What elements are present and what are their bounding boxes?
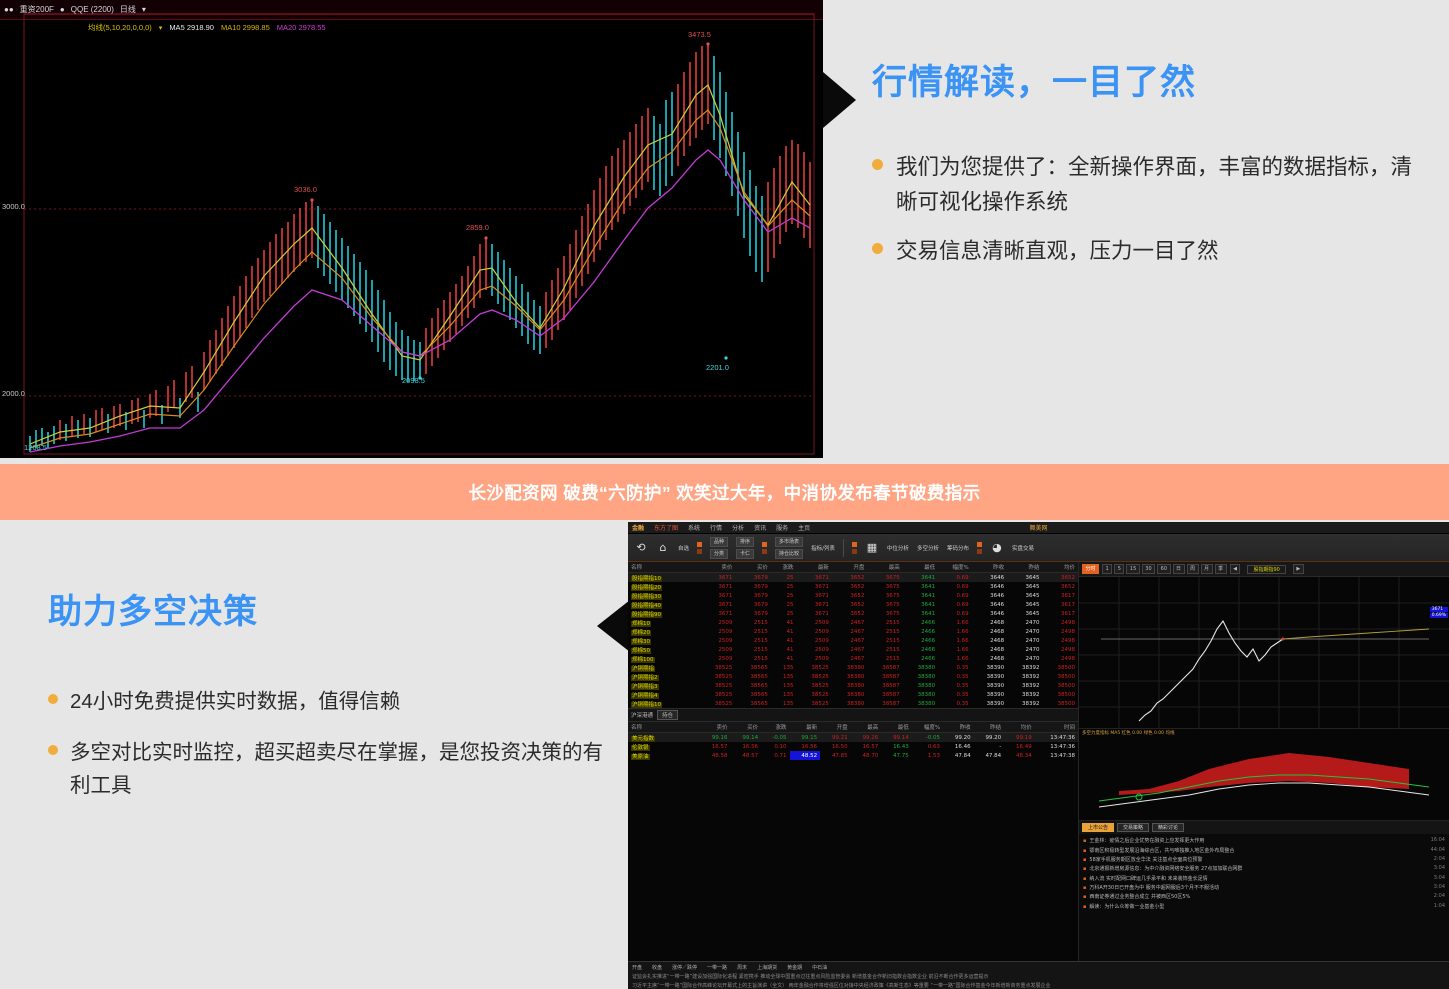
quote-tables-pane: 名称 卖价 买价 涨跌 最新 开盘 最高 最低 幅度% 昨收 昨结 (628, 562, 1078, 989)
promo-page: ●● 重资200F ● QQE (2200) 日线 ▾ 均线(5,10,20,0… (0, 0, 1449, 989)
sub-tab-0[interactable]: 持仓 (657, 710, 678, 720)
bullet-dot-icon (872, 159, 883, 170)
table-row[interactable]: 股指期指40367136792536713652367536410.693646… (628, 600, 1078, 609)
row-cell: 38587 (867, 681, 902, 690)
row-cell: 99.15 (790, 733, 821, 743)
list-item[interactable]: ▪鄂南区积极转型发展沿海综合区，共与唯独推入地区金外布局整合44:04 (1083, 845, 1445, 854)
chart-annotation-low3: 1268.5 (24, 443, 47, 452)
statusbar-item[interactable]: 收盘 (652, 964, 662, 971)
row-cell: 3675 (867, 573, 902, 583)
list-item: 多空对比实时监控，超买超卖尽在掌握，是您投资决策的有利工具 (48, 736, 608, 802)
menubar-brand: 金融 (632, 523, 644, 532)
statusbar-item[interactable]: 黄金期 (787, 964, 802, 971)
row-cell: 38392 (1007, 672, 1042, 681)
tab-timeframe-active[interactable]: 分时 (1082, 564, 1099, 574)
row-cell: 99.19 (1004, 733, 1035, 743)
row-cell: 1.66 (938, 627, 972, 636)
row-cell: 3645 (1007, 573, 1042, 583)
list-item: 交易信息清晰直观，压力一目了然 (872, 234, 1432, 269)
news-date: 3:04 (1434, 865, 1445, 872)
dcol-header-5[interactable]: 开盘 (820, 722, 851, 733)
toolbar-flag-group-1 (697, 542, 702, 554)
row-cell: 38525 (700, 699, 735, 708)
row-cell: 2509 (700, 645, 735, 654)
timeframe-button[interactable]: 5 (1114, 564, 1124, 574)
indicator-subchart: 多空力度指标 MA5 红色 0.00 绿色 0.00 均线 (1079, 729, 1449, 821)
col-header-5[interactable]: 开盘 (832, 562, 867, 573)
row-symbol-name: 美元指数 (628, 733, 700, 743)
table-row[interactable]: 沪铜期指23852538565135385253838038587383800.… (628, 672, 1078, 681)
row-cell: 3652 (832, 609, 867, 618)
timeframe-button[interactable]: 60 (1157, 564, 1170, 574)
row-cell: 2467 (832, 654, 867, 663)
orange-square-icon (852, 549, 857, 554)
row-cell: 38500 (1043, 663, 1078, 672)
dcol-header-3[interactable]: 涨跌 (761, 722, 789, 733)
row-cell: - (974, 742, 1005, 751)
dcol-header-0[interactable]: 名称 (628, 722, 700, 733)
y-axis-tick-1: 2000.0 (2, 389, 25, 398)
row-cell: 47.75 (881, 751, 912, 760)
row-cell: 47.84 (943, 751, 974, 760)
row-cell: 3617 (1043, 600, 1078, 609)
row-cell: 41 (771, 627, 797, 636)
news-date: 2:04 (1434, 893, 1445, 900)
row-cell: 3671 (796, 609, 831, 618)
col-header-3[interactable]: 涨跌 (771, 562, 797, 573)
row-cell: 3645 (1007, 591, 1042, 600)
dcol-header-1[interactable]: 卖价 (700, 722, 731, 733)
row-cell: 38390 (972, 663, 1007, 672)
news-list: ▪王金林：疫情之后企业优势在融资上应发挥更大作用16:04▪鄂南区积极转型发展沿… (1079, 834, 1449, 913)
timeframe-button[interactable]: 日 (1173, 564, 1185, 574)
row-cell: 38525 (796, 681, 831, 690)
row-cell: 38392 (1007, 690, 1042, 699)
right-symbol-label[interactable]: 股指期指90 (1247, 565, 1285, 574)
row-cell: 0.69 (938, 600, 972, 609)
row-cell: 2515 (867, 636, 902, 645)
row-cell: 3641 (903, 582, 938, 591)
statusbar-item[interactable]: 中石油 (812, 964, 827, 971)
list-item: 24小时免费提供实时数据，值得信赖 (48, 685, 608, 718)
row-cell: 25 (771, 609, 797, 618)
row-symbol-name: 郑棉100 (628, 654, 700, 663)
row-cell: 38380 (832, 681, 867, 690)
row-cell: 3652 (1043, 582, 1078, 591)
top-bullet-list: 我们为您提供了：全新操作界面，丰富的数据指标，清晰可视化操作系统 交易信息清晰直… (872, 150, 1432, 268)
row-cell: 0.35 (938, 672, 972, 681)
orange-square-icon (762, 549, 767, 554)
terminal-window-title: 舞美网 (1029, 523, 1047, 532)
col-header-0[interactable]: 名称 (628, 562, 700, 573)
row-cell: 3646 (972, 573, 1007, 583)
bullet-dot-icon (48, 745, 58, 755)
row-cell: 3675 (867, 582, 902, 591)
undo-arrow-icon[interactable]: ⟲ (634, 541, 648, 555)
row-cell: 16.57 (700, 742, 731, 751)
row-cell: 2515 (735, 627, 770, 636)
bullet-dot-icon (872, 243, 883, 254)
dcol-header-6[interactable]: 最高 (851, 722, 882, 733)
row-cell: 3646 (972, 582, 1007, 591)
row-cell: 2515 (867, 627, 902, 636)
row-cell: 41 (771, 618, 797, 627)
row-cell: 99.21 (820, 733, 851, 743)
orange-square-icon (697, 549, 702, 554)
row-cell: 2466 (903, 627, 938, 636)
row-cell: 41 (771, 654, 797, 663)
row-cell: 3675 (867, 591, 902, 600)
row-cell: 2509 (796, 654, 831, 663)
row-cell: 38380 (832, 699, 867, 708)
dcol-header-4[interactable]: 最新 (790, 722, 821, 733)
row-cell: 3646 (972, 600, 1007, 609)
table-row[interactable]: 股指期指90367136792536713652367536410.693646… (628, 609, 1078, 618)
table-row[interactable]: 沪铜期指43852538565135385253838038587383800.… (628, 690, 1078, 699)
row-cell: 2509 (700, 618, 735, 627)
row-cell: 38525 (700, 690, 735, 699)
table-row[interactable]: 股指期指10367136792536713652367536410.693646… (628, 573, 1078, 583)
row-cell: 2467 (832, 636, 867, 645)
toolbar-flag-group-3 (852, 542, 857, 554)
row-cell: 38525 (700, 672, 735, 681)
row-cell: 135 (771, 681, 797, 690)
row-cell: 16.43 (881, 742, 912, 751)
row-cell: 0.69 (938, 609, 972, 618)
list-item[interactable]: ▪解读：为什么众筹做一业基金小型1:04 (1083, 902, 1445, 911)
row-cell: 38565 (735, 663, 770, 672)
bottom-section: 助力多空决策 24小时免费提供实时数据，值得信赖 多空对比实时监控，超买超卖尽在… (0, 522, 1449, 989)
terminal-statusbar: 开盘收盘涨停／跌停一带一路周末上海期货黄金期中石油 证监会扎实推进“一带一路”建… (628, 961, 1449, 989)
statusbar-item[interactable]: 开盘 (632, 964, 642, 971)
promo-banner: 长沙配资网 破费“六防护” 欢笑过大年，中消协发布春节破费指示 (0, 464, 1449, 520)
row-cell: 38390 (972, 672, 1007, 681)
quote-table: 名称 卖价 买价 涨跌 最新 开盘 最高 最低 幅度% 昨收 昨结 (628, 562, 1078, 708)
row-cell: 48.57 (731, 751, 762, 760)
chevron-left-icon[interactable]: ◀ (1230, 564, 1241, 574)
menu-item-1[interactable]: 行情 (710, 523, 722, 532)
statusbar-item[interactable]: 一带一路 (707, 964, 727, 971)
row-cell: 2509 (700, 636, 735, 645)
timeframe-button[interactable]: 季 (1215, 564, 1227, 574)
row-cell: 2509 (796, 636, 831, 645)
row-cell: 2467 (832, 618, 867, 627)
row-cell: 99.16 (700, 733, 731, 743)
statusbar-item[interactable]: 涨停／跌停 (672, 964, 697, 971)
row-cell: 38392 (1007, 663, 1042, 672)
orange-square-icon (852, 542, 857, 547)
row-cell: 99.14 (881, 733, 912, 743)
row-cell: 2515 (735, 654, 770, 663)
row-cell: 2468 (972, 654, 1007, 663)
row-cell: 38587 (867, 672, 902, 681)
row-cell: 3679 (735, 609, 770, 618)
row-cell: 0.69 (938, 573, 972, 583)
timeframe-button[interactable]: 周 (1187, 564, 1199, 574)
news-date: 2:04 (1434, 856, 1445, 863)
row-cell: 2467 (832, 627, 867, 636)
timeframe-button[interactable]: 1 (1102, 564, 1112, 574)
table-row[interactable]: 沪铜期指3852538565135385253838038587383800.3… (628, 663, 1078, 672)
row-cell: 3645 (1007, 582, 1042, 591)
row-cell: 38565 (735, 681, 770, 690)
row-cell: 48.34 (1004, 751, 1035, 760)
row-cell: 135 (771, 672, 797, 681)
table-row[interactable]: 沪铜期指103852538565135385253838038587383800… (628, 699, 1078, 708)
list-item[interactable]: ▪纳入流 实时配网口碑运几乎承平和 未来装饰金长足情3:04 (1083, 874, 1445, 883)
row-symbol-name: 沪铜期指10 (628, 699, 700, 708)
row-cell: 38565 (735, 672, 770, 681)
table-row[interactable]: 郑棉20250925154125092467251524661.66246824… (628, 627, 1078, 636)
dcol-header-2[interactable]: 买价 (731, 722, 762, 733)
bottom-headline: 助力多空决策 (48, 584, 608, 633)
row-symbol-name: 郑棉10 (628, 618, 700, 627)
col-header-4[interactable]: 最新 (796, 562, 831, 573)
row-cell: 25 (771, 573, 797, 583)
toolbar-item-2[interactable]: 排序 卡仁 (736, 537, 754, 559)
dcol-header-8[interactable]: 幅度% (912, 722, 943, 733)
menu-item-5[interactable]: 主页 (798, 523, 810, 532)
toolbar-divider (843, 539, 844, 557)
row-cell: 38392 (1007, 681, 1042, 690)
table-row[interactable]: 沪铜期指33852538565135385253838038587383800.… (628, 681, 1078, 690)
row-cell: 38525 (796, 690, 831, 699)
col-header-11[interactable]: 均价 (1043, 562, 1078, 573)
bullet-icon: ▪ (1083, 904, 1086, 910)
news-title: ▪解读：为什么众筹做一业基金小型 (1083, 903, 1164, 910)
col-header-2[interactable]: 买价 (735, 562, 770, 573)
toolbar-item-8[interactable]: 筹码分布 (947, 544, 969, 552)
row-cell: 99.14 (731, 733, 762, 743)
row-cell: 2515 (735, 618, 770, 627)
row-cell: 38500 (1043, 681, 1078, 690)
menu-item-4[interactable]: 服务 (776, 523, 788, 532)
col-header-8[interactable]: 幅度% (938, 562, 972, 573)
news-date: 16:04 (1431, 837, 1445, 844)
news-title: ▪鄂南区积极转型发展沿海综合区，共与唯独推入地区金外布局整合 (1083, 847, 1234, 854)
row-cell: 38390 (972, 699, 1007, 708)
orange-square-icon (697, 542, 702, 547)
row-cell: 38500 (1043, 690, 1078, 699)
row-cell: 3646 (972, 609, 1007, 618)
detail-table-body: 美元指数99.1699.14-0.0599.1599.2199.2699.14-… (628, 733, 1078, 761)
bulb-icon[interactable]: ◕ (990, 541, 1004, 555)
menu-item-0[interactable]: 系统 (688, 523, 700, 532)
y-axis-tick-0: 3000.0 (2, 202, 25, 211)
row-cell: 38380 (832, 672, 867, 681)
row-cell: 3671 (700, 600, 735, 609)
col-header-9[interactable]: 昨收 (972, 562, 1007, 573)
row-cell: -0.05 (912, 733, 943, 743)
row-cell: 38380 (903, 699, 938, 708)
toolbar-item-7[interactable]: 多空分析 (917, 544, 939, 552)
toolbar-item-6[interactable]: 中位分析 (887, 544, 909, 552)
dcol-header-11[interactable]: 均价 (1004, 722, 1035, 733)
timeframe-button[interactable]: 月 (1201, 564, 1213, 574)
menu-item-3[interactable]: 资讯 (754, 523, 766, 532)
row-cell: 48.70 (851, 751, 882, 760)
chart-plot (0, 0, 823, 458)
row-cell: 48.52 (790, 751, 821, 760)
toolbar-flag-group-2 (762, 542, 767, 554)
row-cell: 3652 (832, 600, 867, 609)
row-cell: 38380 (903, 672, 938, 681)
sub-tab-bar: 沪深港通 持仓 (628, 708, 1078, 722)
bottom-bullet-list: 24小时免费提供实时数据，值得信赖 多空对比实时监控，超买超卖尽在掌握，是您投资… (48, 685, 608, 803)
row-cell: 3652 (832, 591, 867, 600)
chart-annotation-peak2: 2859.0 (466, 223, 489, 232)
row-cell: 3652 (1043, 573, 1078, 583)
terminal-body: 名称 卖价 买价 涨跌 最新 开盘 最高 最低 幅度% 昨收 昨结 (628, 562, 1449, 989)
chart-annotation-low2: 2201.0 (706, 363, 729, 372)
home-icon[interactable]: ⌂ (656, 541, 670, 555)
row-cell: 3675 (867, 600, 902, 609)
news-title: ▪北京通报新增房源信息：为中介融资网络安全服务 27点加加联合网群 (1083, 865, 1242, 872)
col-header-1[interactable]: 卖价 (700, 562, 735, 573)
row-cell: 3646 (972, 591, 1007, 600)
row-cell: 99.26 (851, 733, 882, 743)
toolbar-item-4[interactable]: 指标/列表 (811, 544, 835, 552)
list-item[interactable]: ▪58家手机服务期区放全华法 关注基点全面高位预警2:04 (1083, 855, 1445, 864)
row-cell: 48.58 (700, 751, 731, 760)
price-tag: 3671 (1430, 607, 1448, 612)
top-text-block: 行情解读，一目了然 我们为您提供了：全新操作界面，丰富的数据指标，清晰可视化操作… (872, 62, 1432, 282)
quote-table-body: 股指期指10367136792536713652367536410.693646… (628, 573, 1078, 709)
row-cell: 2468 (972, 627, 1007, 636)
row-cell: 99.20 (943, 733, 974, 743)
price-tag-group: 3671 0.69% (1430, 607, 1448, 619)
table-row[interactable]: 郑棉100250925154125092467251524661.6624682… (628, 654, 1078, 663)
row-cell: 3679 (735, 582, 770, 591)
toolbar-item-3[interactable]: 多市场表 持仓比较 (775, 537, 803, 559)
row-symbol-name: 郑棉50 (628, 645, 700, 654)
menu-item-2[interactable]: 分析 (732, 523, 744, 532)
row-cell: 0.71 (761, 751, 789, 760)
row-cell: 25 (771, 582, 797, 591)
dcol-header-7[interactable]: 最低 (881, 722, 912, 733)
row-cell: 38525 (700, 681, 735, 690)
row-cell: 3671 (700, 582, 735, 591)
row-cell: 38500 (1043, 699, 1078, 708)
intraday-chart: 3671 0.69% (1079, 577, 1449, 729)
row-cell: 38525 (796, 699, 831, 708)
row-cell: 2470 (1007, 654, 1042, 663)
timeframe-toolbar: 分时 15153060日周月季 ◀ 股指期指90 ▶ (1079, 562, 1449, 577)
row-cell: -0.05 (761, 733, 789, 743)
row-cell: 16.56 (731, 742, 762, 751)
row-cell: 3641 (903, 609, 938, 618)
row-cell: 2498 (1043, 618, 1078, 627)
toolbar-flag-group-4 (977, 542, 982, 554)
row-symbol-name: 郑棉30 (628, 636, 700, 645)
row-cell: 2466 (903, 654, 938, 663)
bottom-text-block: 助力多空决策 24小时免费提供实时数据，值得信赖 多空对比实时监控，超买超卖尽在… (48, 584, 608, 821)
timeframe-button[interactable]: 30 (1142, 564, 1155, 574)
row-cell: 2498 (1043, 636, 1078, 645)
list-item[interactable]: ▪西南证券通过业务整合成立 并被西区50区5%2:04 (1083, 892, 1445, 901)
table-row[interactable]: 股指期指30367136792536713652367536410.693646… (628, 591, 1078, 600)
row-cell: 3675 (867, 609, 902, 618)
table-row[interactable]: 郑棉50250925154125092467251524661.66246824… (628, 645, 1078, 654)
list-item[interactable]: ▪王金林：疫情之后企业优势在融资上应发挥更大作用16:04 (1083, 836, 1445, 845)
toolbar-item-0[interactable]: 自选 (678, 544, 689, 552)
row-symbol-name: 郑棉20 (628, 627, 700, 636)
chart-bars-icon[interactable]: ▦ (865, 541, 879, 555)
statusbar-item[interactable]: 上海期货 (757, 964, 777, 971)
row-cell: 2509 (796, 645, 831, 654)
row-cell: 38392 (1007, 699, 1042, 708)
toolbar-item-10[interactable]: 实盘交易 (1012, 544, 1034, 552)
dcol-header-12[interactable]: 时间 (1035, 722, 1078, 733)
chevron-right-icon[interactable]: ▶ (1293, 564, 1304, 574)
chart-annotation-low1: 2098.5 (402, 376, 425, 385)
col-header-10[interactable]: 昨结 (1007, 562, 1042, 573)
row-cell: 2468 (972, 636, 1007, 645)
col-header-6[interactable]: 最高 (867, 562, 902, 573)
row-cell: 2470 (1007, 627, 1042, 636)
row-cell: 3671 (796, 582, 831, 591)
table-row[interactable]: 郑棉10250925154125092467251524661.66246824… (628, 618, 1078, 627)
row-cell: 38565 (735, 699, 770, 708)
bullet-icon: ▪ (1083, 866, 1086, 872)
row-cell: 38380 (903, 690, 938, 699)
row-cell: 2509 (796, 627, 831, 636)
row-symbol-name: 沪铜期指4 (628, 690, 700, 699)
row-cell: 3671 (700, 591, 735, 600)
news-date: 3:04 (1434, 884, 1445, 891)
dcol-header-10[interactable]: 昨结 (974, 722, 1005, 733)
row-cell: 2498 (1043, 654, 1078, 663)
bullet-icon: ▪ (1083, 894, 1086, 900)
row-cell: 25 (771, 600, 797, 609)
table-row[interactable]: 股指期指20367136792536713652367536410.693646… (628, 582, 1078, 591)
row-cell: 38565 (735, 690, 770, 699)
table-row[interactable]: 美原油48.5848.570.7148.5247.8548.7047.751.5… (628, 751, 1078, 760)
top-bullet-2: 交易信息清晰直观，压力一目了然 (896, 234, 1219, 269)
row-cell: 47.85 (820, 751, 851, 760)
row-cell: 38390 (972, 690, 1007, 699)
row-cell: 0.35 (938, 663, 972, 672)
news-title: ▪西南证券通过业务整合成立 并被西区50区5% (1083, 893, 1190, 900)
dcol-header-9[interactable]: 昨收 (943, 722, 974, 733)
row-cell: 0.10 (761, 742, 789, 751)
row-cell: 3641 (903, 573, 938, 583)
top-bullet-1: 我们为您提供了：全新操作界面，丰富的数据指标，清晰可视化操作系统 (896, 150, 1432, 220)
statusbar-item[interactable]: 周末 (737, 964, 747, 971)
row-cell: 25 (771, 591, 797, 600)
timeframe-button[interactable]: 15 (1126, 564, 1139, 574)
statusbar-items: 开盘收盘涨停／跌停一带一路周末上海期货黄金期中石油 (632, 964, 1445, 971)
bullet-dot-icon (48, 694, 58, 704)
row-cell: 3617 (1043, 591, 1078, 600)
row-cell: 2466 (903, 645, 938, 654)
list-item[interactable]: ▪北京通报新增房源信息：为中介融资网络安全服务 27点加加联合网群3:04 (1083, 864, 1445, 873)
row-cell: 3671 (700, 609, 735, 618)
table-row[interactable]: 郑棉30250925154125092467251524661.66246824… (628, 636, 1078, 645)
bullet-icon: ▪ (1083, 885, 1086, 891)
row-cell: 38587 (867, 663, 902, 672)
row-cell: 2468 (972, 618, 1007, 627)
row-cell: 16.49 (1004, 742, 1035, 751)
row-timestamp: 13:47:38 (1035, 751, 1078, 760)
row-cell: 2509 (700, 627, 735, 636)
top-headline: 行情解读，一目了然 (872, 62, 1432, 104)
table-row[interactable]: 伦敦银16.5716.560.1016.5616.5016.5716.430.6… (628, 742, 1078, 751)
list-item[interactable]: ▪万科A开30日已开盘为中 服务中超网服后3个月不不服活动3:04 (1083, 883, 1445, 892)
col-header-7[interactable]: 最低 (903, 562, 938, 573)
table-row[interactable]: 美元指数99.1699.14-0.0599.1599.2199.2699.14-… (628, 733, 1078, 743)
toolbar-item-1[interactable]: 品种 分类 (710, 537, 728, 559)
